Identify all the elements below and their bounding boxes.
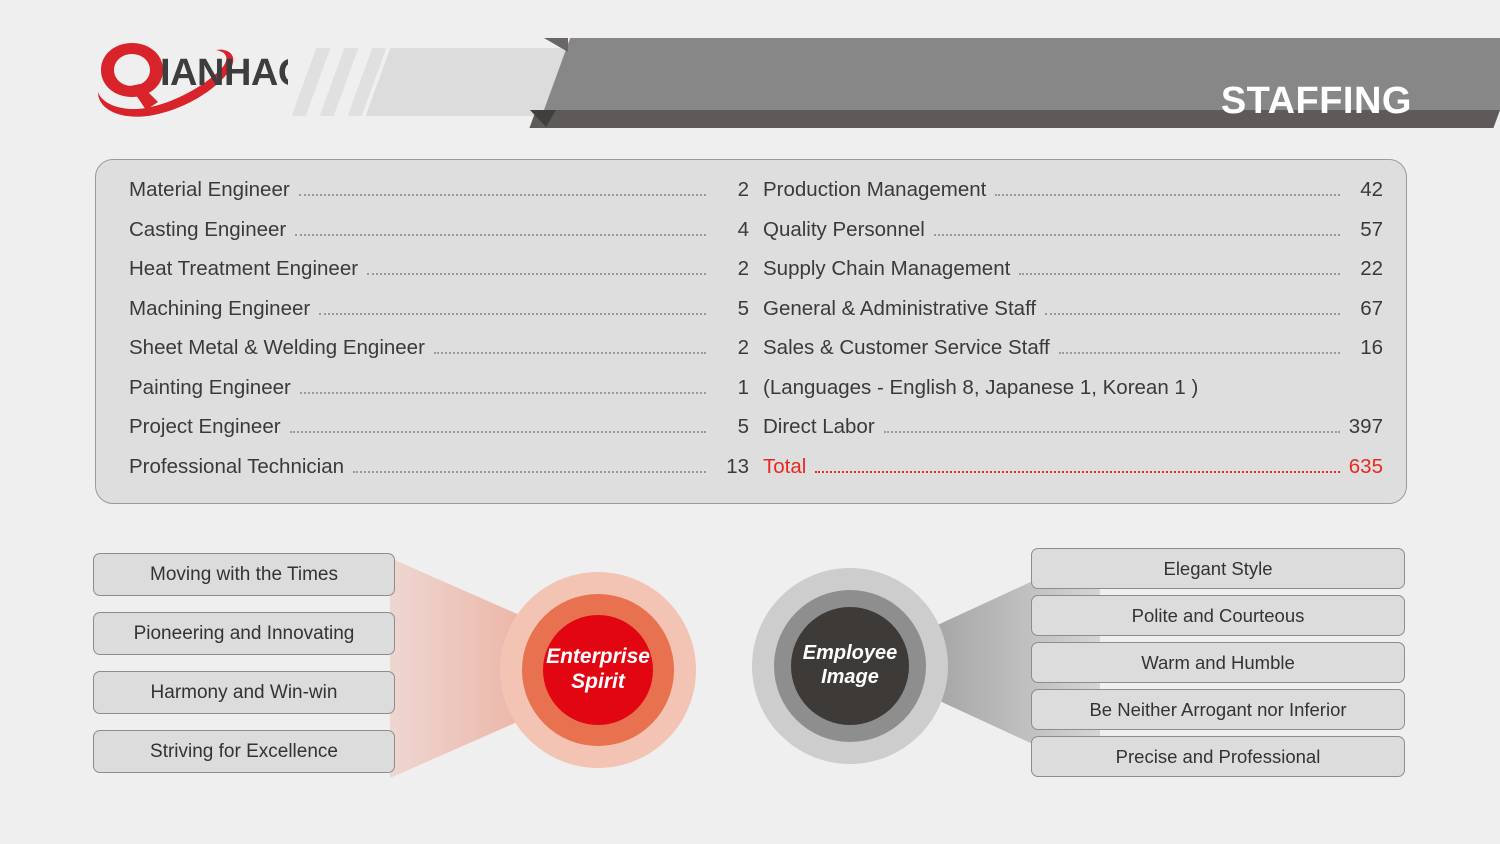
staffing-row: Machining Engineer5 bbox=[129, 297, 749, 337]
circle-core: Employee Image bbox=[791, 607, 909, 725]
employee-image-item[interactable]: Polite and Courteous bbox=[1031, 595, 1405, 636]
staffing-row: Professional Technician13 bbox=[129, 455, 749, 495]
culture-diagrams: Moving with the TimesPioneering and Inno… bbox=[0, 520, 1500, 844]
employee-image-items: Elegant StylePolite and CourteousWarm an… bbox=[1031, 548, 1405, 783]
employee-image-circle: Employee Image bbox=[752, 568, 948, 764]
staffing-row-value: 1 bbox=[715, 376, 749, 400]
staffing-row: Sales & Customer Service Staff16 bbox=[763, 336, 1383, 376]
enterprise-spirit-item[interactable]: Striving for Excellence bbox=[93, 730, 395, 773]
staffing-row-label: Painting Engineer bbox=[129, 376, 291, 400]
slide-header: IANHAO STAFFING bbox=[0, 0, 1500, 150]
leader-dots bbox=[295, 234, 706, 236]
leader-dots bbox=[1045, 313, 1340, 315]
staffing-row: Painting Engineer1 bbox=[129, 376, 749, 416]
leader-dots bbox=[299, 194, 706, 196]
staffing-row-label: Production Management bbox=[763, 178, 986, 202]
staffing-row: Sheet Metal & Welding Engineer2 bbox=[129, 336, 749, 376]
q-orbit-logo-icon: IANHAO bbox=[88, 40, 288, 120]
circle-core: Enterprise Spirit bbox=[543, 615, 653, 725]
staffing-row: Heat Treatment Engineer2 bbox=[129, 257, 749, 297]
staffing-right-column: Production Management42Quality Personnel… bbox=[763, 160, 1383, 503]
staffing-row-label: Total bbox=[763, 455, 806, 479]
staffing-row: Total635 bbox=[763, 455, 1383, 495]
staffing-row-label: Machining Engineer bbox=[129, 297, 310, 321]
staffing-row-value: 67 bbox=[1349, 297, 1383, 321]
staffing-row: Production Management42 bbox=[763, 178, 1383, 218]
staffing-left-column: Material Engineer2Casting Engineer4Heat … bbox=[129, 160, 749, 503]
staffing-row-value: 57 bbox=[1349, 218, 1383, 242]
staffing-row-label: Heat Treatment Engineer bbox=[129, 257, 358, 281]
staffing-panel: Material Engineer2Casting Engineer4Heat … bbox=[95, 159, 1407, 504]
enterprise-spirit-circle: Enterprise Spirit bbox=[500, 572, 696, 768]
staffing-row-value: 22 bbox=[1349, 257, 1383, 281]
employee-image-item[interactable]: Warm and Humble bbox=[1031, 642, 1405, 683]
staffing-row-value: 2 bbox=[715, 336, 749, 360]
staffing-row: (Languages - English 8, Japanese 1, Kore… bbox=[763, 376, 1383, 416]
leader-dots bbox=[1059, 352, 1340, 354]
enterprise-spirit-items: Moving with the TimesPioneering and Inno… bbox=[93, 553, 395, 789]
staffing-row: Direct Labor397 bbox=[763, 415, 1383, 455]
staffing-row-label: Material Engineer bbox=[129, 178, 290, 202]
staffing-row: Material Engineer2 bbox=[129, 178, 749, 218]
leader-dots bbox=[934, 234, 1340, 236]
enterprise-spirit-item[interactable]: Harmony and Win-win bbox=[93, 671, 395, 714]
staffing-row-value: 5 bbox=[715, 297, 749, 321]
qianhao-logo: IANHAO bbox=[88, 40, 288, 120]
enterprise-spirit-item[interactable]: Pioneering and Innovating bbox=[93, 612, 395, 655]
employee-image-item[interactable]: Precise and Professional bbox=[1031, 736, 1405, 777]
leader-dots bbox=[884, 431, 1340, 433]
staffing-row-label: Casting Engineer bbox=[129, 218, 286, 242]
banner-fold-top bbox=[544, 38, 568, 52]
staffing-row-label: Sheet Metal & Welding Engineer bbox=[129, 336, 425, 360]
staffing-row-value: 16 bbox=[1349, 336, 1383, 360]
staffing-row-label: General & Administrative Staff bbox=[763, 297, 1036, 321]
staffing-row-value: 397 bbox=[1349, 415, 1383, 439]
leader-dots bbox=[815, 471, 1339, 473]
staffing-row: General & Administrative Staff67 bbox=[763, 297, 1383, 337]
leader-dots bbox=[353, 471, 706, 473]
leader-dots bbox=[319, 313, 706, 315]
leader-dots bbox=[995, 194, 1340, 196]
enterprise-spirit-item[interactable]: Moving with the Times bbox=[93, 553, 395, 596]
header-banner: STAFFING bbox=[520, 38, 1500, 138]
staffing-row: Project Engineer5 bbox=[129, 415, 749, 455]
staffing-row-value: 42 bbox=[1349, 178, 1383, 202]
enterprise-spirit-label: Enterprise Spirit bbox=[546, 645, 650, 695]
staffing-row-label: Project Engineer bbox=[129, 415, 281, 439]
staffing-row-label: Supply Chain Management bbox=[763, 257, 1010, 281]
staffing-row-label: Professional Technician bbox=[129, 455, 344, 479]
staffing-row: Supply Chain Management22 bbox=[763, 257, 1383, 297]
staffing-row-value: 2 bbox=[715, 257, 749, 281]
leader-dots bbox=[434, 352, 706, 354]
staffing-row-value: 2 bbox=[715, 178, 749, 202]
staffing-row-value: 13 bbox=[715, 455, 749, 479]
employee-image-label: Employee Image bbox=[803, 642, 897, 689]
svg-text:IANHAO: IANHAO bbox=[160, 52, 288, 94]
employee-image-item[interactable]: Elegant Style bbox=[1031, 548, 1405, 589]
staffing-row-value: 4 bbox=[715, 218, 749, 242]
staffing-row: Quality Personnel57 bbox=[763, 218, 1383, 258]
staffing-row-label: Direct Labor bbox=[763, 415, 875, 439]
staffing-row-label: Quality Personnel bbox=[763, 218, 925, 242]
leader-dots bbox=[290, 431, 706, 433]
staffing-row: Casting Engineer4 bbox=[129, 218, 749, 258]
staffing-row-value: 5 bbox=[715, 415, 749, 439]
leader-dots bbox=[367, 273, 706, 275]
staffing-row-label: Sales & Customer Service Staff bbox=[763, 336, 1050, 360]
leader-dots bbox=[1019, 273, 1340, 275]
staffing-row-label: (Languages - English 8, Japanese 1, Kore… bbox=[763, 376, 1198, 400]
staffing-slide: IANHAO STAFFING Material Engineer2Castin… bbox=[0, 0, 1500, 844]
employee-image-item[interactable]: Be Neither Arrogant nor Inferior bbox=[1031, 689, 1405, 730]
leader-dots bbox=[300, 392, 706, 394]
staffing-row-value: 635 bbox=[1349, 455, 1383, 479]
page-title: STAFFING bbox=[1221, 82, 1412, 120]
